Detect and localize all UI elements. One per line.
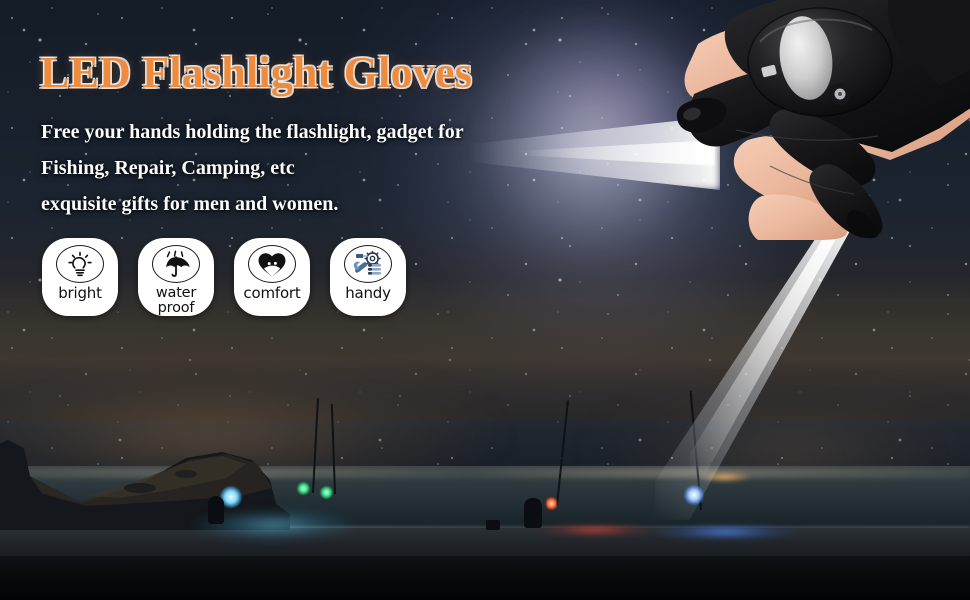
feature-badges: bright water proof [42, 238, 406, 316]
camp-light-glow-cyan [170, 505, 400, 545]
subcopy-line-2: Fishing, Repair, Camping, etc [41, 150, 561, 186]
feature-badge-label: comfort [243, 286, 300, 301]
distant-ship-light [690, 470, 760, 484]
page-title: LED Flashlight Gloves [40, 51, 472, 95]
feature-badge-label: water proof [156, 286, 196, 316]
angler-silhouette [208, 496, 224, 524]
rod-tip-light-red [546, 497, 557, 510]
feature-badge-label-line1: water [156, 285, 196, 301]
feature-badge-handy[interactable]: handy [330, 238, 406, 316]
rod-tip-light-green [297, 482, 310, 495]
feature-badge-bright[interactable]: bright [42, 238, 118, 316]
subcopy-block: Free your hands holding the flashlight, … [41, 114, 561, 222]
camp-light-glow-blue [640, 522, 830, 542]
subcopy-line-1: Free your hands holding the flashlight, … [41, 114, 561, 150]
feature-badge-comfort[interactable]: comfort [234, 238, 310, 316]
rod-tip-light-blue [684, 485, 704, 505]
foreground-shadow [0, 556, 970, 600]
heart-hand-icon [248, 245, 296, 283]
rod-tip-light-green [320, 486, 333, 499]
feature-badge-label: handy [345, 286, 391, 301]
umbrella-rain-icon [152, 245, 200, 283]
tackle-box [486, 520, 500, 530]
subcopy-line-3: exquisite gifts for men and women. [41, 186, 561, 222]
feature-badge-label-line2: proof [158, 300, 195, 316]
product-banner: LED Flashlight Gloves Free your hands ho… [0, 0, 970, 600]
feature-badge-label: bright [58, 286, 102, 301]
lightbulb-icon [56, 245, 104, 283]
angler-silhouette [524, 498, 542, 528]
feature-badge-waterproof[interactable]: water proof [138, 238, 214, 316]
tools-icon [344, 245, 392, 283]
led-flashlight-glove-product [640, 0, 970, 240]
